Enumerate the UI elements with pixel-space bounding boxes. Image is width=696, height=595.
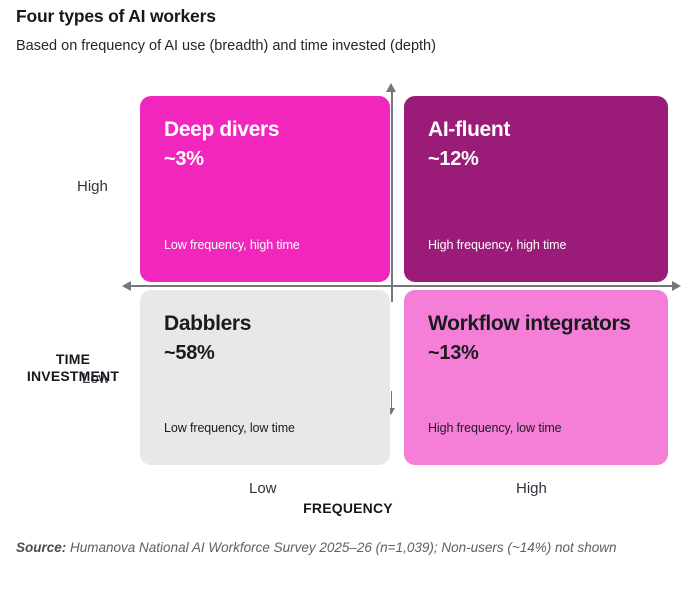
y-axis-tick-high: High xyxy=(77,178,108,195)
source-text: Humanova National AI Workforce Survey 20… xyxy=(66,540,616,555)
quadrant-description: High frequency, low time xyxy=(428,421,562,435)
y-axis-title-line-1: TIME xyxy=(14,351,132,368)
x-axis-title: FREQUENCY xyxy=(0,500,696,516)
quadrant-description: Low frequency, high time xyxy=(164,238,300,252)
quadrant-dabblers[interactable]: Dabblers ~58% Low frequency, low time xyxy=(140,290,390,465)
y-axis-title-line-2: INVESTMENT xyxy=(14,368,132,385)
quadrant-workflow-integrators[interactable]: Workflow integrators ~13% High frequency… xyxy=(404,290,668,465)
quadrant-chart-plot-area: Deep divers ~3% Low frequency, high time… xyxy=(0,80,696,500)
quadrant-value: ~12% xyxy=(428,148,644,171)
quadrant-description: High frequency, high time xyxy=(428,238,566,252)
y-axis-arrow-up-icon xyxy=(386,83,396,92)
source-note: Source: Humanova National AI Workforce S… xyxy=(16,538,676,558)
quadrant-title: Dabblers xyxy=(164,312,366,336)
quadrant-value: ~13% xyxy=(428,342,644,365)
x-axis-tick-low: Low xyxy=(249,480,277,497)
quadrant-title: Deep divers xyxy=(164,118,366,142)
quadrant-deep-divers[interactable]: Deep divers ~3% Low frequency, high time xyxy=(140,96,390,282)
x-axis-arrow-right-icon xyxy=(672,281,681,291)
page-title: Four types of AI workers xyxy=(16,6,216,27)
x-axis-tick-high: High xyxy=(516,480,547,497)
y-axis-title: TIME INVESTMENT xyxy=(14,351,132,384)
y-axis-line xyxy=(391,90,393,302)
page-subtitle: Based on frequency of AI use (breadth) a… xyxy=(16,38,436,54)
x-axis-arrow-left-icon xyxy=(122,281,131,291)
quadrant-description: Low frequency, low time xyxy=(164,421,295,435)
x-axis-line xyxy=(130,285,678,287)
quadrant-value: ~3% xyxy=(164,148,366,171)
quadrant-title: Workflow integrators xyxy=(428,312,644,336)
quadrant-value: ~58% xyxy=(164,342,366,365)
source-label: Source: xyxy=(16,540,66,555)
quadrant-ai-fluent[interactable]: AI-fluent ~12% High frequency, high time xyxy=(404,96,668,282)
quadrant-title: AI-fluent xyxy=(428,118,644,142)
